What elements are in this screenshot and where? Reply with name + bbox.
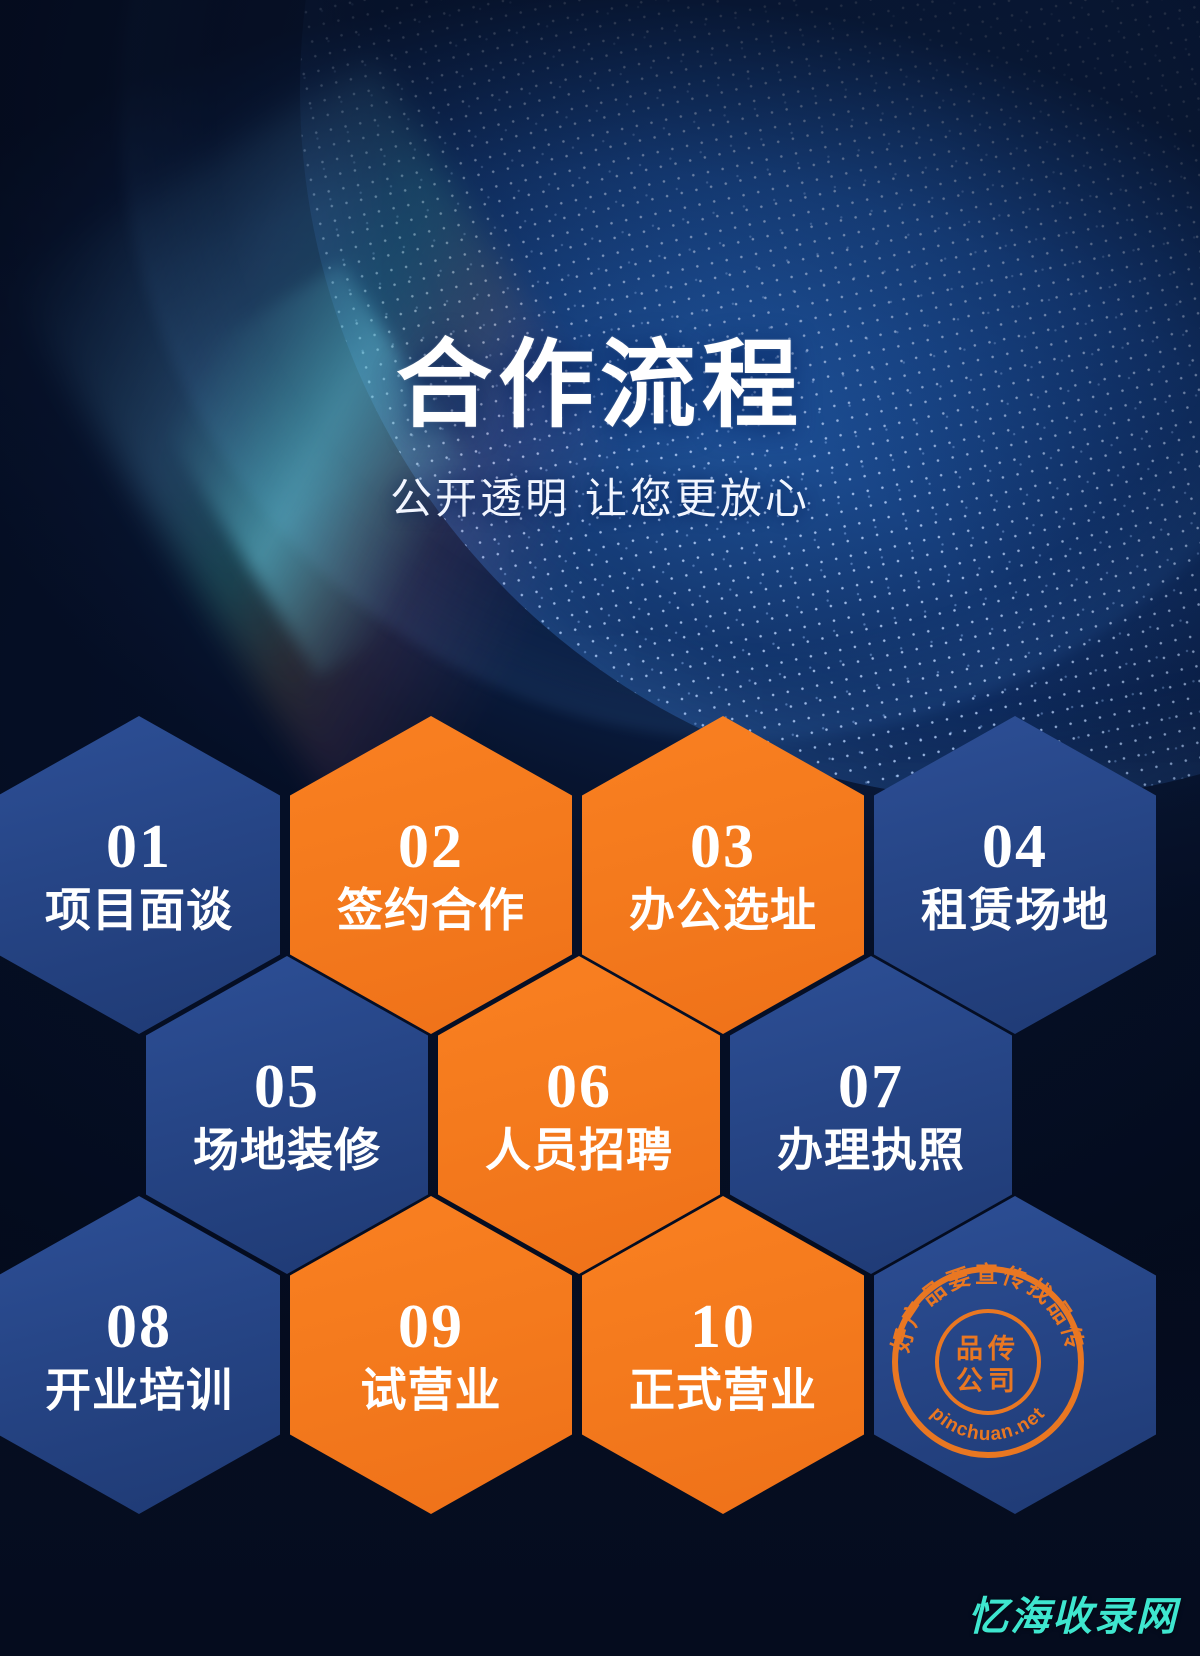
stamp-inner-line1: 品传 [956,1334,1020,1364]
step-number: 01 [106,816,172,878]
step-label: 人员招聘 [485,1126,673,1174]
step-label: 签约合作 [337,886,525,934]
step-number: 07 [838,1056,904,1118]
step-number: 02 [398,816,464,878]
step-label: 试营业 [361,1366,502,1414]
step-label: 办公选址 [629,886,817,934]
step-label: 开业培训 [45,1366,233,1414]
step-label: 正式营业 [629,1366,817,1414]
stamp-inner-line2: 公司 [956,1366,1020,1396]
step-number: 03 [690,816,756,878]
site-watermark: 忆海收录网 [968,1584,1178,1642]
step-number: 05 [254,1056,320,1118]
step-label: 场地装修 [193,1126,381,1174]
poster-canvas: 合作流程 公开透明 让您更放心 01 项目面谈 02 签约合作 03 办公选址 … [0,0,1200,1656]
step-label: 办理执照 [777,1126,965,1174]
svg-text:pinchuan.net: pinchuan.net [927,1403,1050,1445]
step-number: 08 [106,1296,172,1358]
step-number: 06 [546,1056,612,1118]
stamp-bottom-text: pinchuan.net [927,1403,1050,1445]
company-stamp-icon: 好产品要宣传找品传 品传 公司 pinchuan.net [880,1254,1096,1470]
step-label: 项目面谈 [45,886,233,934]
step-number: 10 [690,1296,756,1358]
step-label: 租赁场地 [921,886,1109,934]
step-number: 09 [398,1296,464,1358]
step-number: 04 [982,816,1048,878]
